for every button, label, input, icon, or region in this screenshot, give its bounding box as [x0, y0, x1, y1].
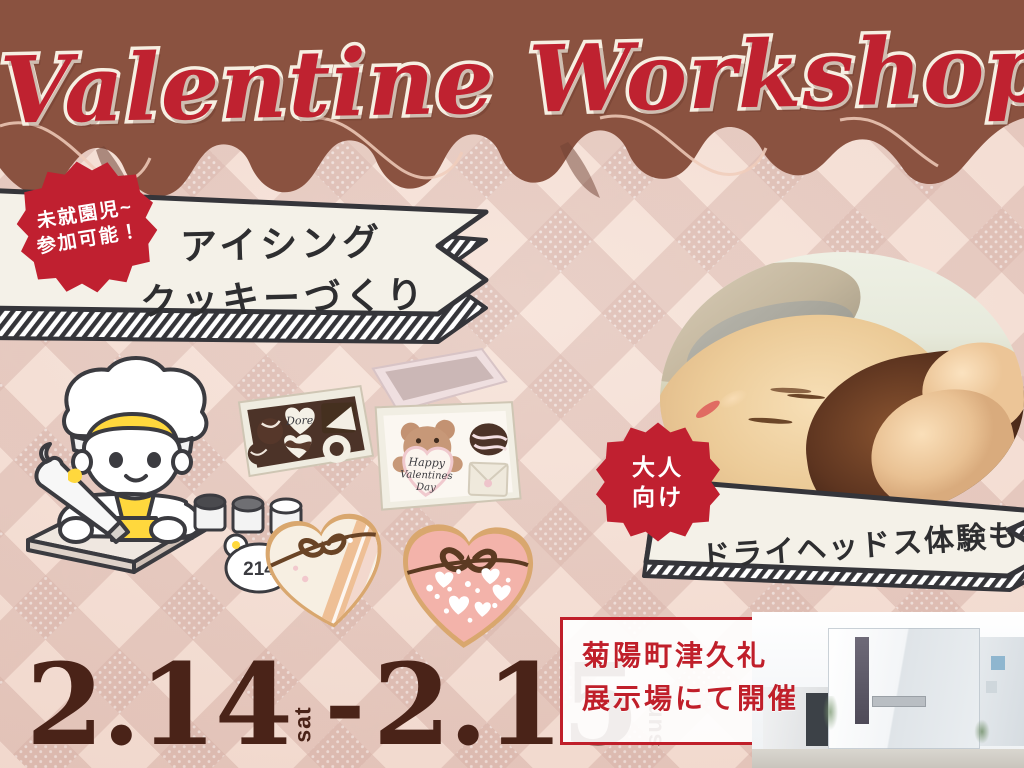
house-main-volume: [828, 628, 980, 750]
title-word-valentine: Valentine: [0, 26, 496, 144]
date-start-number: 2.14: [26, 657, 291, 756]
date-separator: -: [325, 662, 365, 748]
house-vertical-banner: [855, 637, 869, 724]
venue-line2: 展示場にて開催: [582, 677, 822, 720]
badge-preschool-ok: 未就園児~ 参加可能！: [8, 148, 166, 306]
date-start-weekday: sat: [289, 706, 316, 742]
poster-title: ValentineWorkshop: [0, 15, 1024, 144]
badge-for-adults-line2: 向け: [632, 482, 684, 512]
cookie-box-left-cookie-label: Dore: [285, 414, 314, 428]
house-entrance-sign: [872, 696, 926, 707]
cookie-box-left: Dore: [234, 376, 378, 485]
poster-canvas: ValentineWorkshop アイシング クッキーづくり: [0, 0, 1024, 768]
spa-nose: [717, 387, 752, 415]
house-window-upper: [991, 656, 1005, 670]
spa-lips: [694, 398, 722, 421]
valentines-cookie-line3: Day: [415, 482, 436, 494]
banner-icing-cookie-line1: アイシング: [179, 211, 384, 270]
heart-cookie-cream: [250, 497, 402, 641]
house-window-lower: [986, 681, 997, 693]
heart-cookie-pink: [388, 508, 545, 656]
banner-icing-cookie-line2: クッキーづくり: [139, 264, 427, 325]
cookie-box-right: Happy Valentines Day: [368, 389, 532, 523]
house-shrub: [970, 718, 994, 752]
title-word-workshop: Workshop: [528, 15, 1024, 134]
venue-text: 菊陽町津久礼 展示場にて開催: [582, 634, 822, 721]
badge-preschool-label: 未就園児~ 参加可能！: [8, 148, 166, 306]
house-ground: [752, 749, 1024, 768]
venue-line1: 菊陽町津久礼: [582, 634, 822, 677]
valentines-cookie-line2: Valentines: [400, 469, 453, 482]
valentines-cookie-line1: Happy: [407, 456, 446, 470]
badge-for-adults-label: 大人 向け: [596, 420, 720, 544]
spa-eye-closed-second: [787, 394, 825, 401]
spa-eye-closed: [749, 417, 793, 425]
badge-for-adults-line1: 大人: [632, 452, 684, 482]
badge-for-adults: 大人 向け: [596, 420, 720, 544]
